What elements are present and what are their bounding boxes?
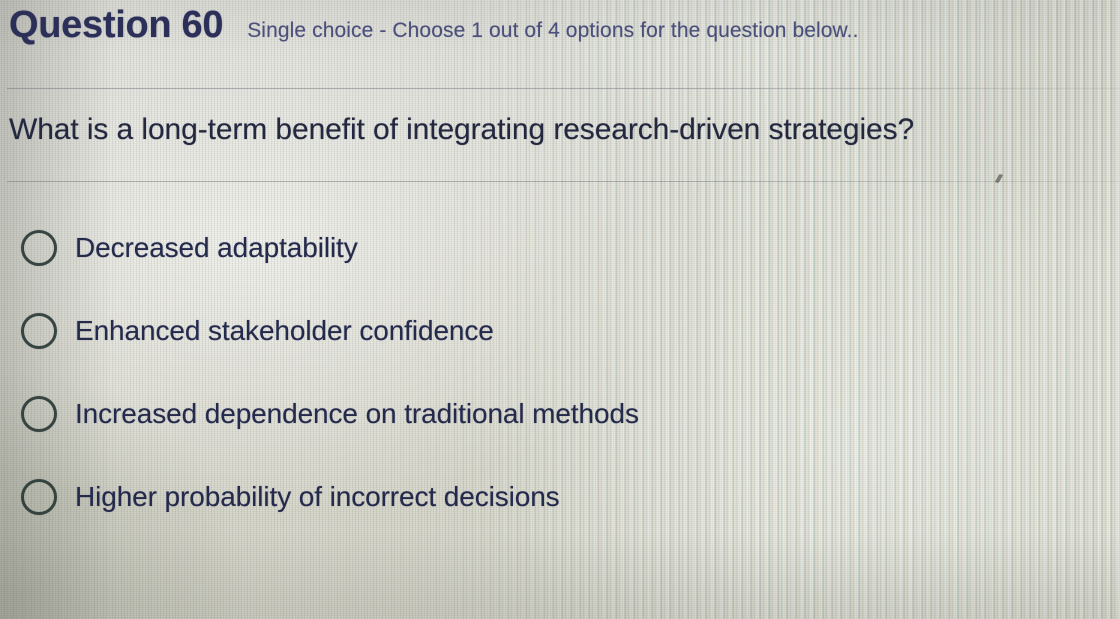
option-row[interactable]: Higher probability of incorrect decision… <box>0 455 1119 538</box>
question-prompt: What is a long-term benefit of integrati… <box>9 113 914 147</box>
option-label: Enhanced stakeholder confidence <box>75 315 494 347</box>
radio-button-icon[interactable] <box>21 479 57 515</box>
quiz-screen: Question 60 Single choice - Choose 1 out… <box>0 0 1119 619</box>
radio-button-icon[interactable] <box>21 313 57 349</box>
question-type-hint: Single choice - Choose 1 out of 4 option… <box>247 19 858 43</box>
option-label: Decreased adaptability <box>75 232 358 264</box>
question-header: Question 60 Single choice - Choose 1 out… <box>9 4 1119 47</box>
divider-middle <box>7 181 1119 182</box>
radio-button-icon[interactable] <box>21 230 57 266</box>
option-row[interactable]: Increased dependence on traditional meth… <box>0 372 1119 455</box>
page-title: Question 60 <box>9 4 223 47</box>
option-row[interactable]: Decreased adaptability <box>0 206 1119 289</box>
quiz-content: Question 60 Single choice - Choose 1 out… <box>0 0 1119 619</box>
option-label: Higher probability of incorrect decision… <box>75 481 560 513</box>
option-label: Increased dependence on traditional meth… <box>75 398 639 430</box>
radio-button-icon[interactable] <box>21 396 57 432</box>
divider-top <box>7 88 1119 89</box>
option-row[interactable]: Enhanced stakeholder confidence <box>0 289 1119 372</box>
options-list: Decreased adaptability Enhanced stakehol… <box>0 206 1119 538</box>
